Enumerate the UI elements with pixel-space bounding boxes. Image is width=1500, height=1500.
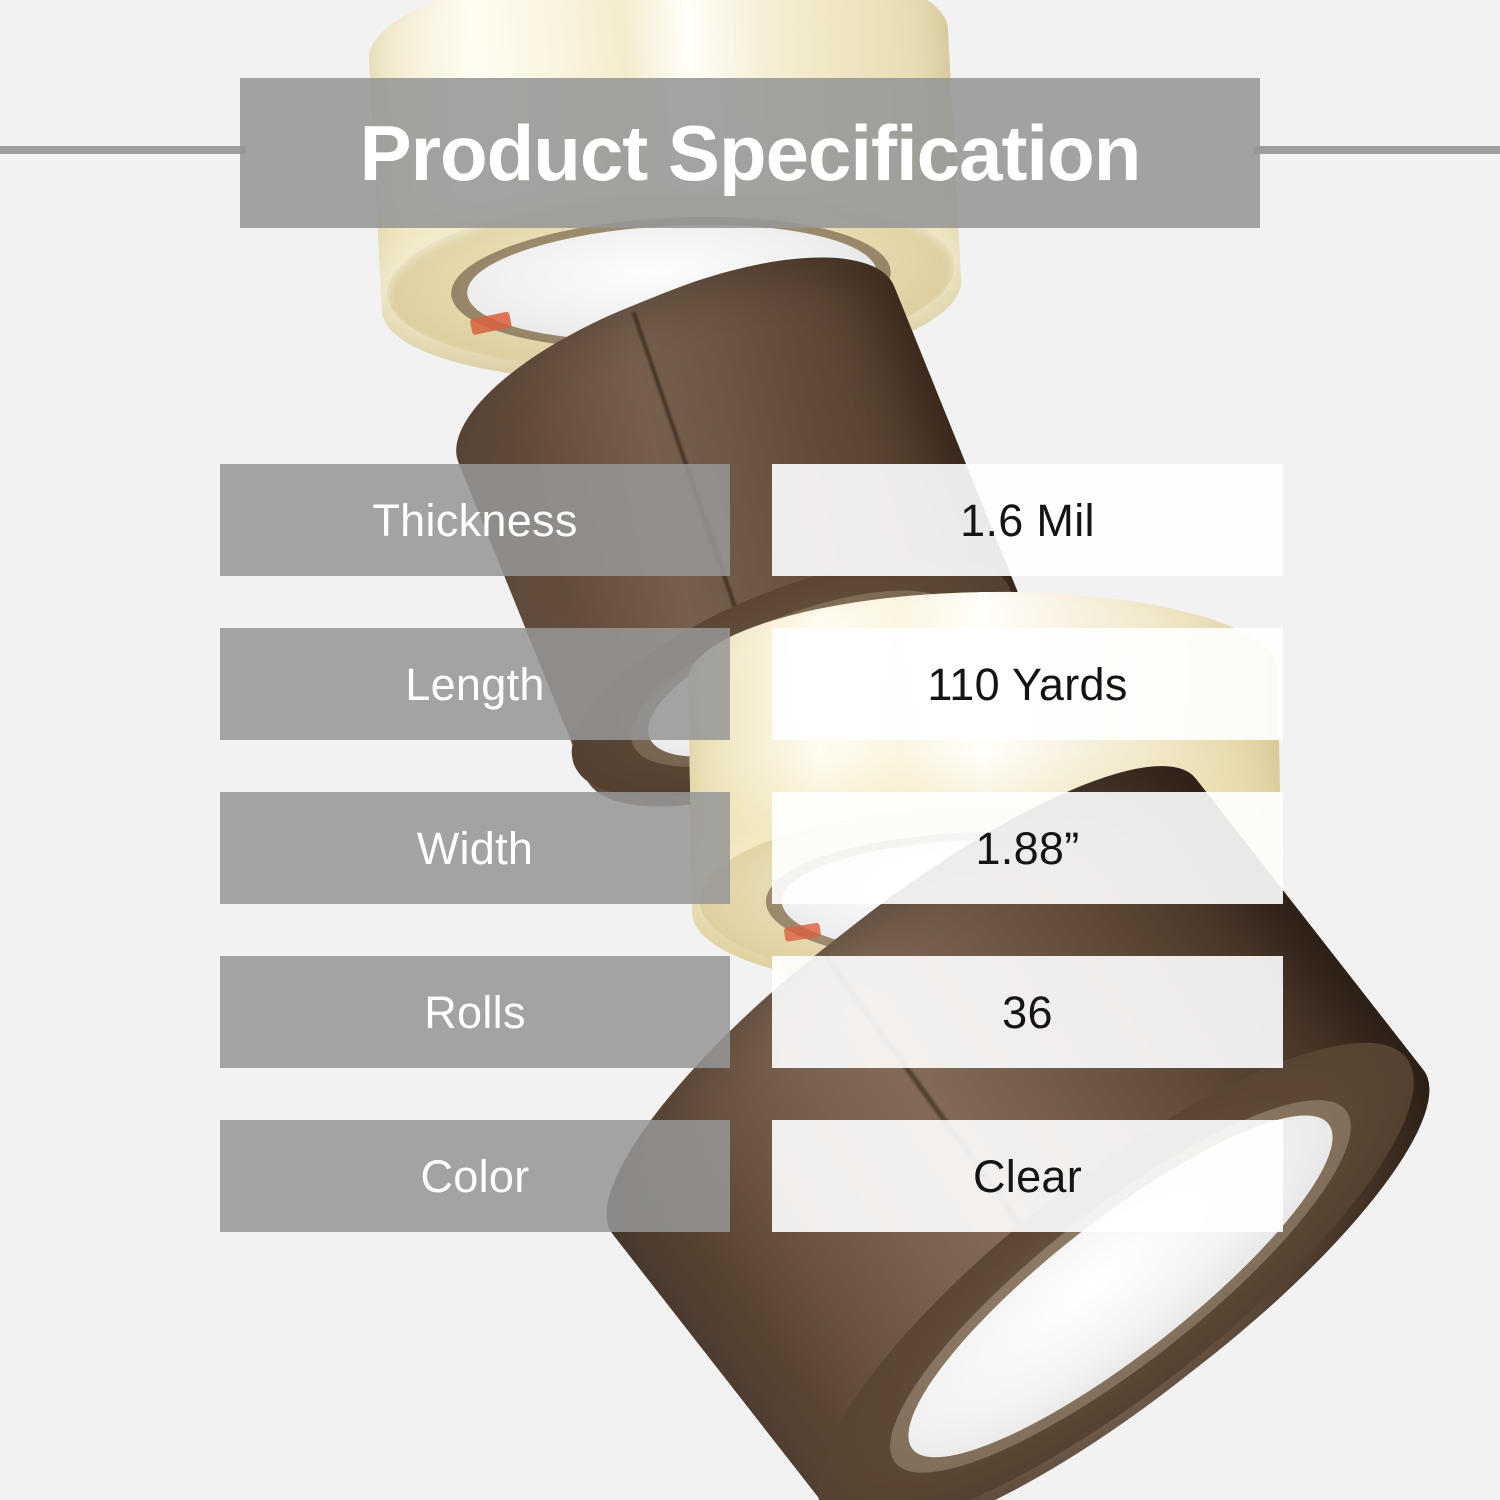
spec-value-text: Clear <box>973 1154 1082 1199</box>
table-row: Width 1.88” <box>0 792 1500 904</box>
spec-label-text: Color <box>420 1154 529 1199</box>
page-title: Product Specification <box>360 114 1141 192</box>
spec-value-thickness: 1.6 Mil <box>772 464 1283 576</box>
header-rule-right <box>1254 146 1500 154</box>
table-row: Color Clear <box>0 1120 1500 1232</box>
spec-label-text: Length <box>405 662 544 707</box>
specification-table: Thickness 1.6 Mil Length 110 Yards Width… <box>0 464 1500 1284</box>
table-row: Length 110 Yards <box>0 628 1500 740</box>
spec-value-width: 1.88” <box>772 792 1283 904</box>
table-row: Rolls 36 <box>0 956 1500 1068</box>
spec-value-text: 110 Yards <box>927 662 1127 707</box>
spec-label-text: Width <box>417 826 534 871</box>
spec-label-width: Width <box>220 792 730 904</box>
spec-value-text: 1.88” <box>975 826 1079 871</box>
spec-label-rolls: Rolls <box>220 956 730 1068</box>
spec-value-color: Clear <box>772 1120 1283 1232</box>
table-row: Thickness 1.6 Mil <box>0 464 1500 576</box>
spec-label-text: Rolls <box>424 990 526 1035</box>
spec-value-text: 36 <box>1002 990 1053 1035</box>
spec-value-length: 110 Yards <box>772 628 1283 740</box>
header-rule-left <box>0 146 246 154</box>
header-banner: Product Specification <box>240 78 1260 228</box>
product-specification-infographic: Product Specification Thickness 1.6 Mil … <box>0 0 1500 1500</box>
spec-label-thickness: Thickness <box>220 464 730 576</box>
spec-value-rolls: 36 <box>772 956 1283 1068</box>
spec-label-text: Thickness <box>372 498 577 543</box>
spec-value-text: 1.6 Mil <box>960 498 1095 543</box>
spec-label-length: Length <box>220 628 730 740</box>
spec-label-color: Color <box>220 1120 730 1232</box>
